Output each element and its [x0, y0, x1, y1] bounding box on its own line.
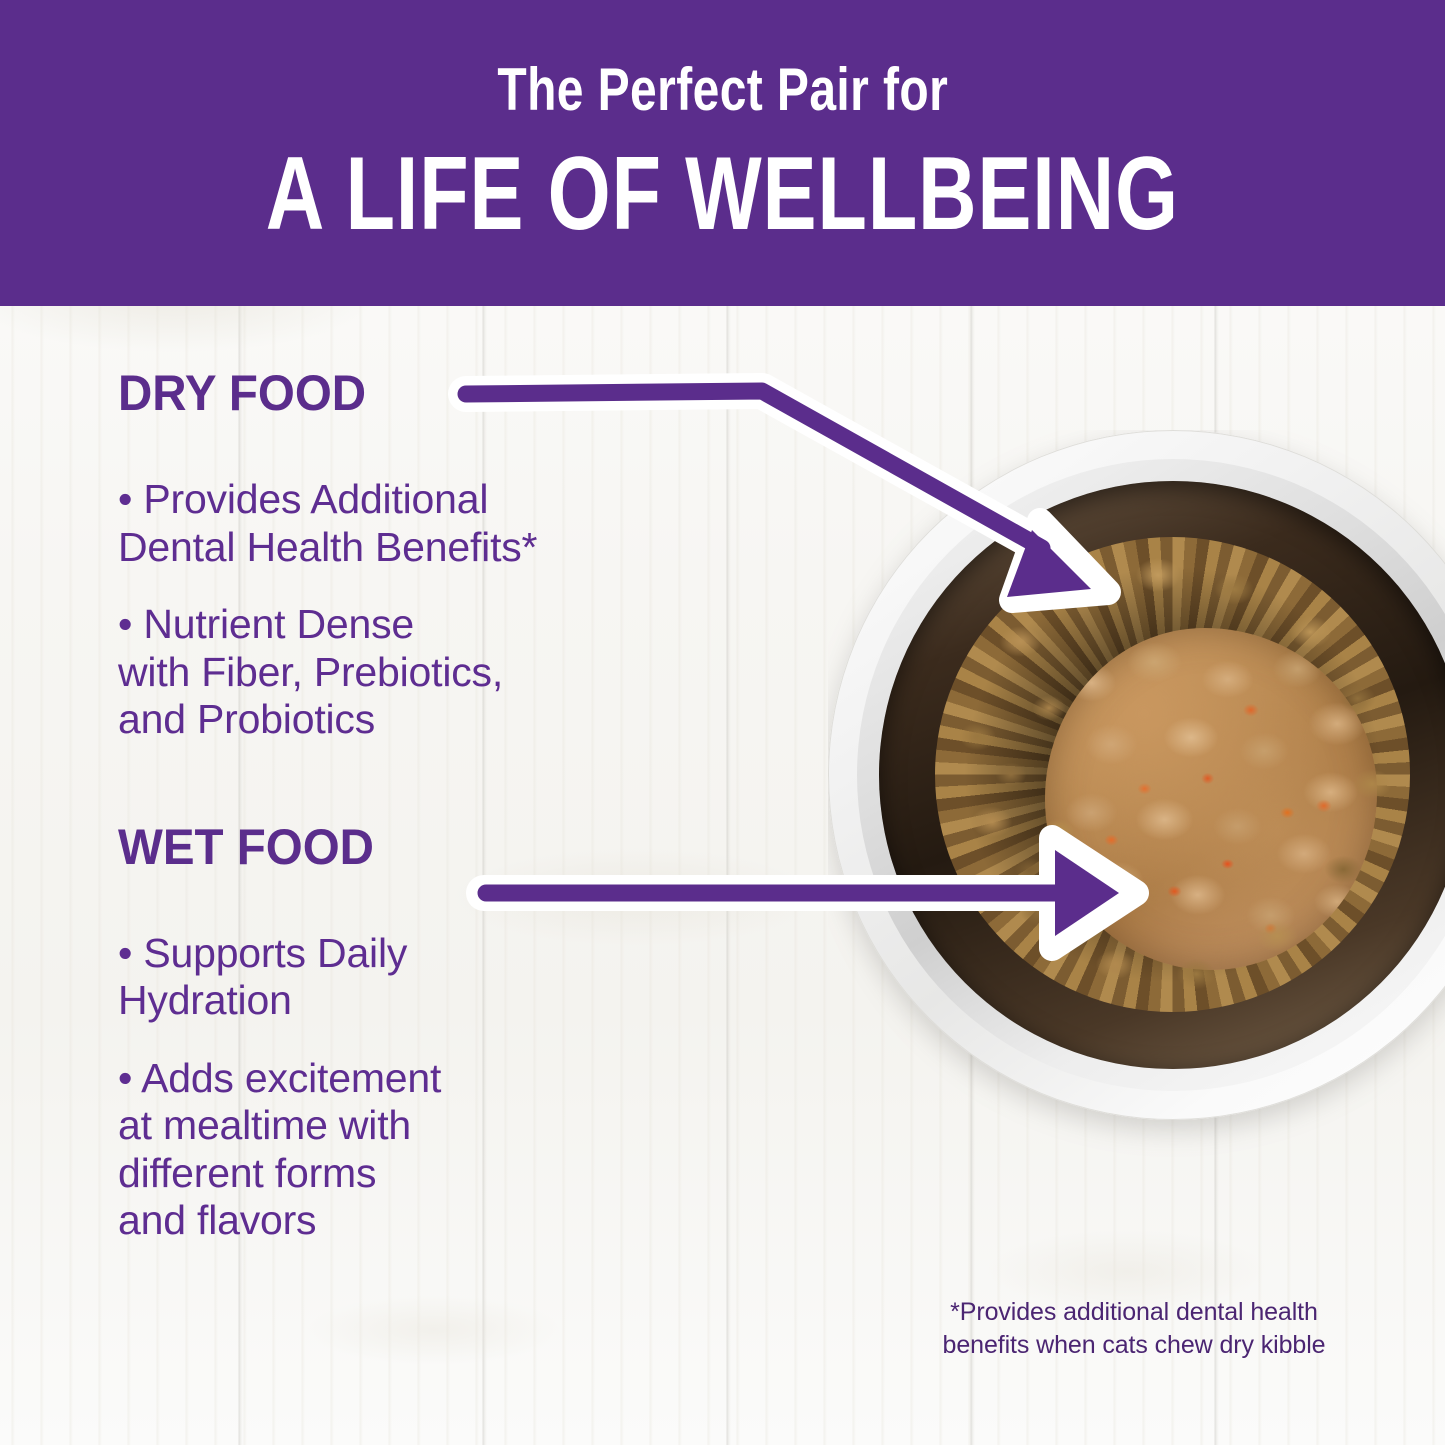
section-title-dry-food: DRY FOOD — [118, 368, 783, 418]
wet-food-gravy — [1045, 628, 1378, 970]
bullet-wet-1-line-2: Hydration — [118, 977, 292, 1023]
bowl-interior — [879, 481, 1445, 1069]
bullet-wet-2-line-4: and flavors — [118, 1197, 316, 1243]
header-subtitle: The Perfect Pair for — [497, 60, 948, 120]
cat-food-bowl-photo — [828, 430, 1445, 1250]
section-title-wet-food: WET FOOD — [118, 822, 783, 872]
dry-kibble-ring — [935, 537, 1410, 1012]
bullet-dry-2-line-3: and Probiotics — [118, 696, 375, 742]
bullet-dry-2-line-1: • Nutrient Dense — [118, 601, 414, 647]
bullet-wet-2-line-2: at mealtime with — [118, 1102, 411, 1148]
bullet-wet-2-line-3: different forms — [118, 1150, 376, 1196]
footnote-line-1: *Provides additional dental health — [950, 1298, 1318, 1326]
header-title: A LIFE OF WELLBEING — [266, 142, 1179, 246]
bowl-outer-rim — [828, 430, 1445, 1120]
footnote-line-2: benefits when cats chew dry kibble — [943, 1331, 1326, 1359]
bullet-dry-2: • Nutrient Dense with Fiber, Prebiotics,… — [118, 601, 818, 744]
footnote: *Provides additional dental health benef… — [919, 1296, 1349, 1361]
bullet-wet-2: • Adds excitement at mealtime with diffe… — [118, 1055, 818, 1245]
promo-infographic: The Perfect Pair for A LIFE OF WELLBEING — [0, 0, 1445, 1445]
benefits-column: DRY FOOD • Provides Additional Dental He… — [118, 368, 818, 1245]
header-band: The Perfect Pair for A LIFE OF WELLBEING — [0, 0, 1445, 306]
bullet-dry-1-line-1: • Provides Additional — [118, 476, 488, 522]
bullet-wet-1: • Supports Daily Hydration — [118, 930, 818, 1025]
bullet-dry-1: • Provides Additional Dental Health Bene… — [118, 476, 818, 571]
bullet-wet-1-line-1: • Supports Daily — [118, 930, 407, 976]
bullet-wet-2-line-1: • Adds excitement — [118, 1055, 441, 1101]
bullet-dry-1-line-2: Dental Health Benefits* — [118, 524, 537, 570]
bullet-dry-2-line-2: with Fiber, Prebiotics, — [118, 649, 503, 695]
